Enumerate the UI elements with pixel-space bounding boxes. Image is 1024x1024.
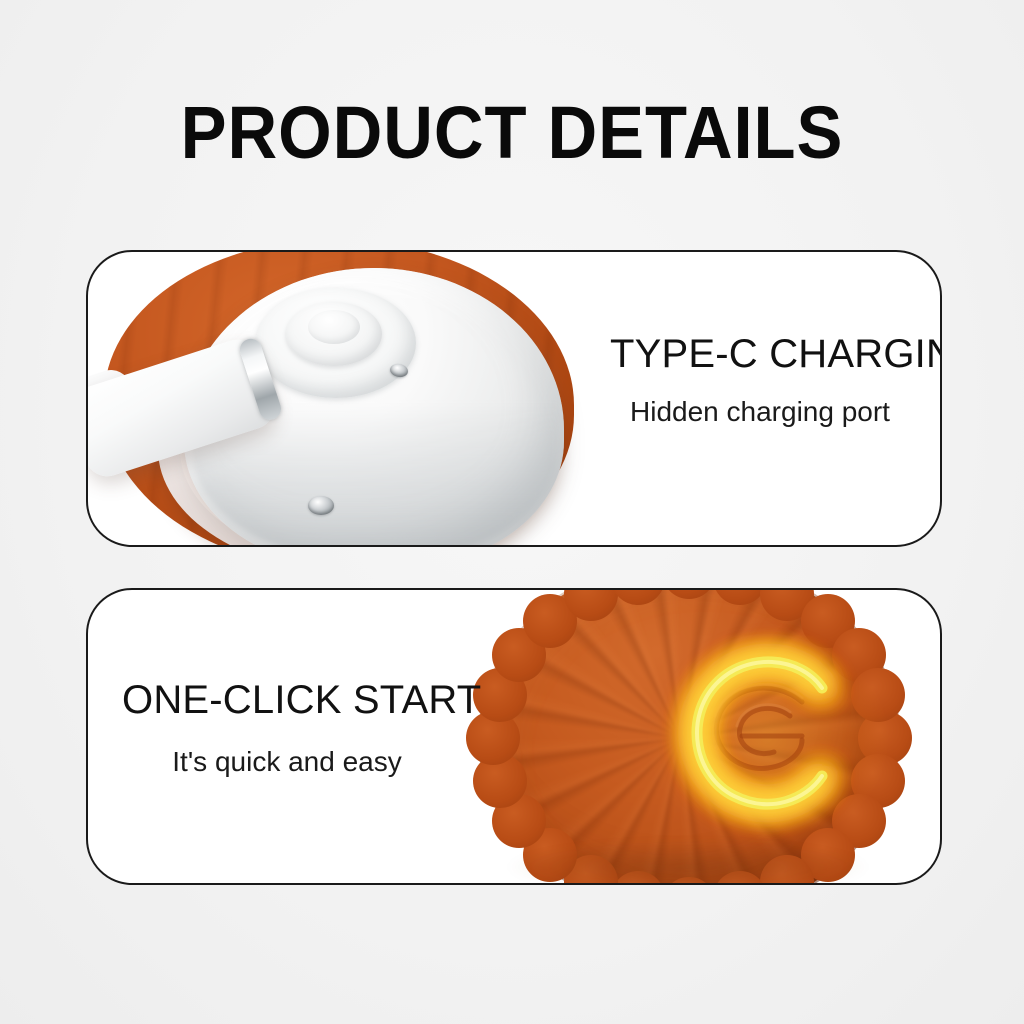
- ball-scallop-bump: [713, 590, 767, 605]
- ball-scallop-bump: [611, 590, 665, 605]
- card-text-block: ONE-CLICK START It's quick and easy: [122, 678, 452, 778]
- card-subtitle: Hidden charging port: [610, 396, 910, 428]
- page-title-wrap: PRODUCT DETAILS: [0, 96, 1024, 170]
- detail-card-one-click-start: ONE-CLICK START It's quick and easy: [86, 588, 942, 885]
- ball-scallop-bump: [662, 590, 716, 599]
- screw-icon: [308, 496, 334, 515]
- detail-card-type-c-charging: TYPE-C CHARGING Hidden charging port: [86, 250, 942, 547]
- card-subtitle: It's quick and easy: [122, 746, 452, 778]
- product-photo-charging-port: [88, 252, 608, 547]
- card-heading: ONE-CLICK START: [122, 678, 452, 722]
- card-text-block: TYPE-C CHARGING Hidden charging port: [610, 332, 910, 428]
- glowing-c-arc-icon: [654, 636, 874, 836]
- dome-ring-inner: [308, 310, 360, 344]
- card-heading: TYPE-C CHARGING: [610, 332, 910, 376]
- page-title: PRODUCT DETAILS: [36, 96, 988, 170]
